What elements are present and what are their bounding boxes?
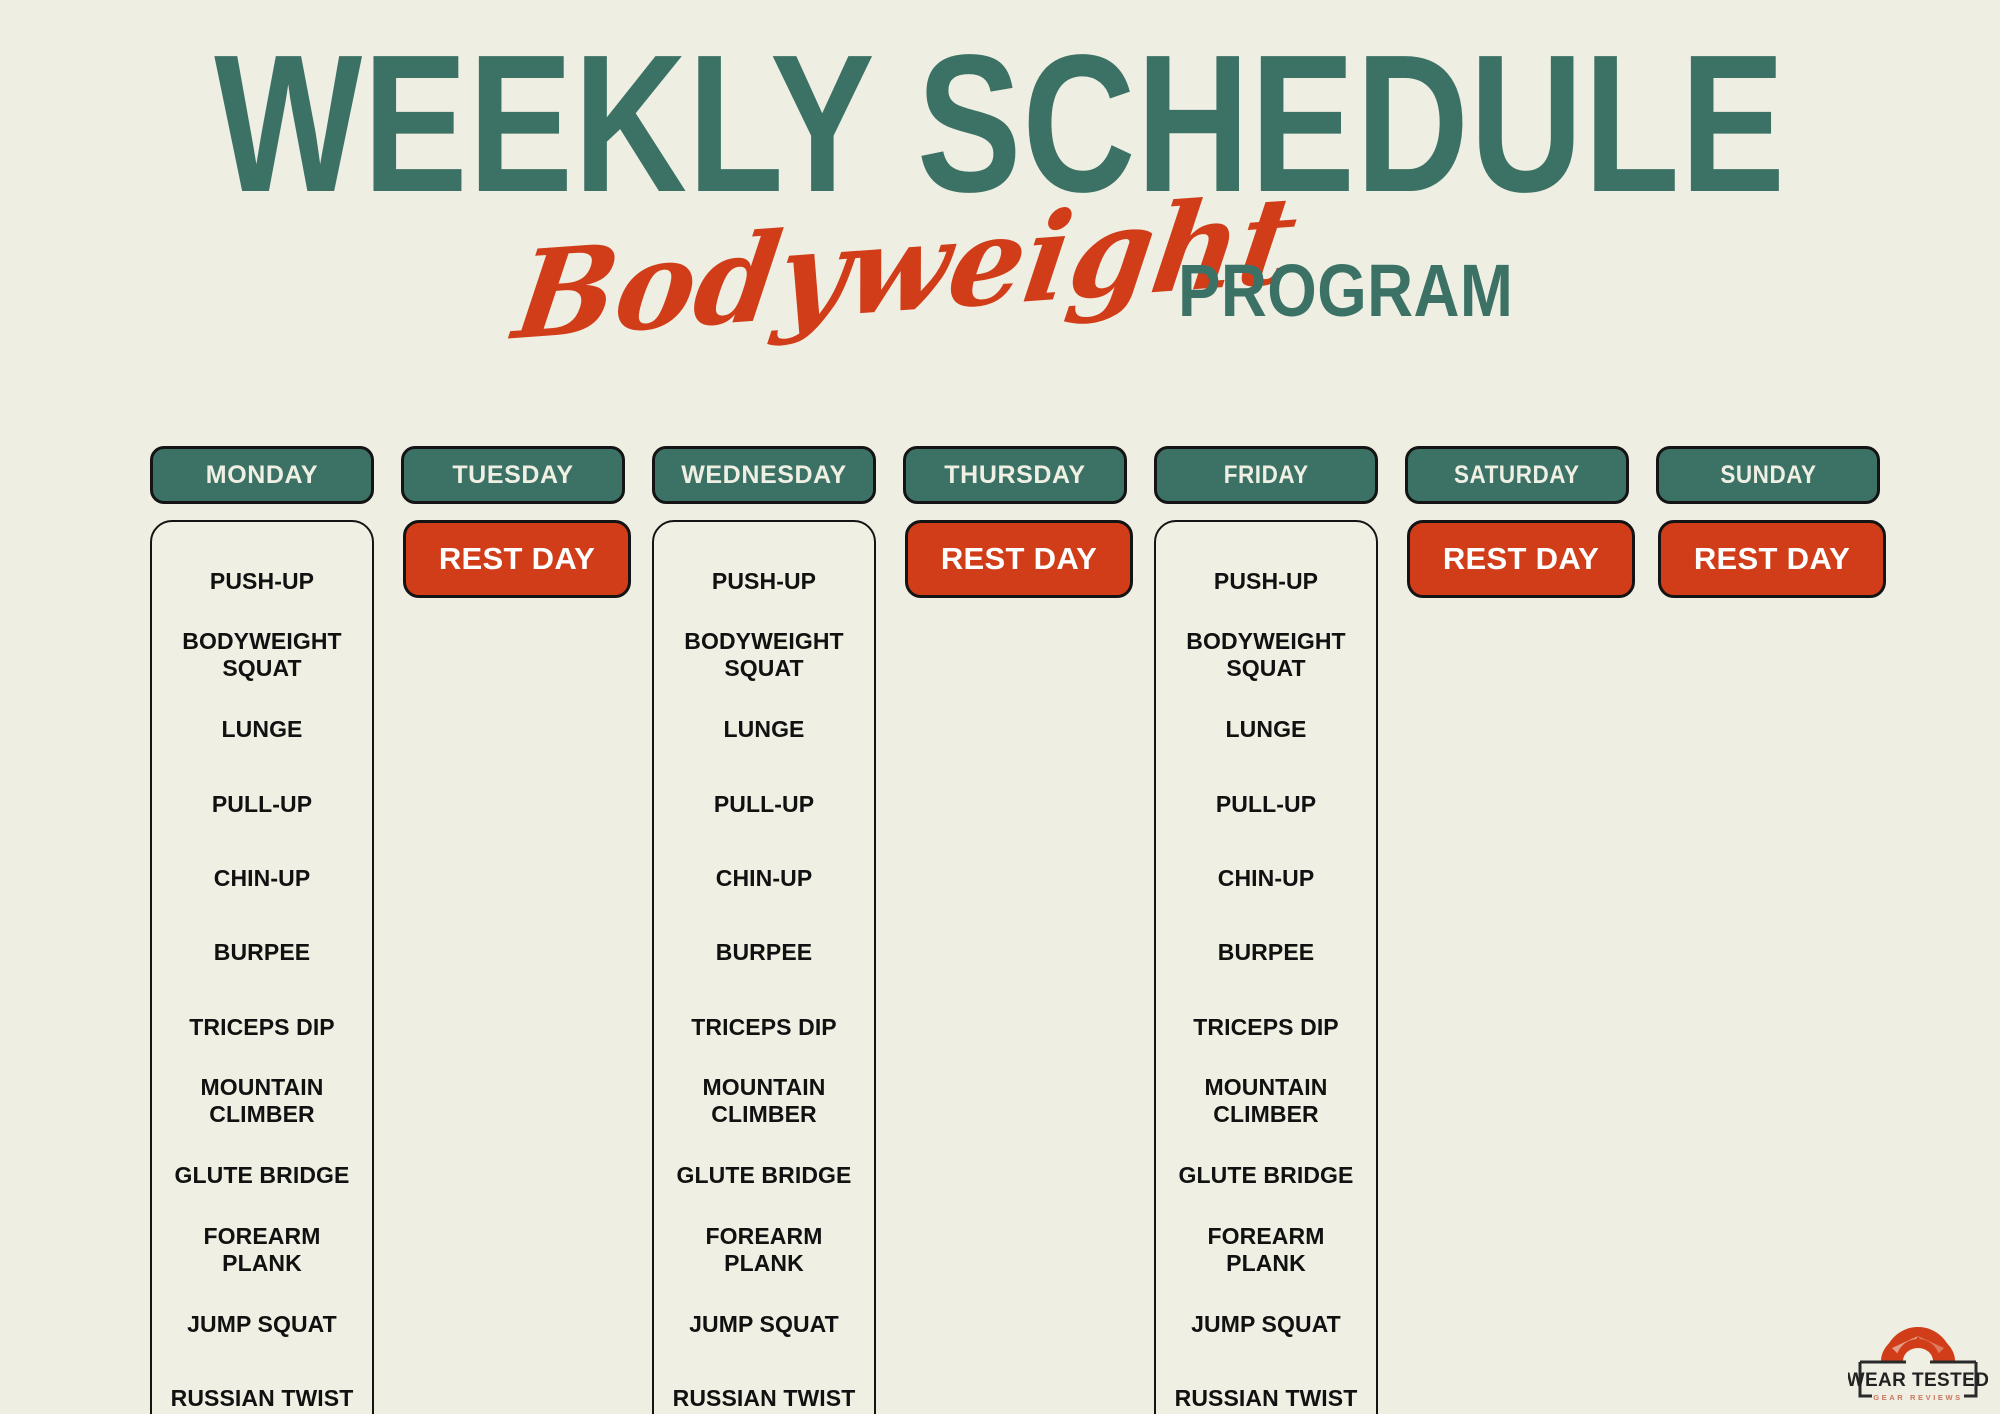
exercise-item[interactable]: BODYWEIGHT SQUAT bbox=[160, 618, 364, 692]
exercise-item[interactable]: BURPEE bbox=[160, 916, 364, 990]
day-header-tuesday[interactable]: TUESDAY bbox=[401, 446, 625, 504]
rest-day-block[interactable]: REST DAY bbox=[1658, 520, 1886, 598]
rest-day-block[interactable]: REST DAY bbox=[403, 520, 631, 598]
aperture-icon bbox=[1881, 1327, 1955, 1374]
exercise-item[interactable]: RUSSIAN TWIST bbox=[662, 1362, 866, 1414]
exercise-item[interactable]: BODYWEIGHT SQUAT bbox=[662, 618, 866, 692]
day-header-label: THURSDAY bbox=[944, 461, 1085, 490]
day-column-monday: MONDAYPUSH-UPBODYWEIGHT SQUATLUNGEPULL-U… bbox=[150, 446, 401, 1414]
rest-day-label: REST DAY bbox=[941, 541, 1097, 577]
day-header-monday[interactable]: MONDAY bbox=[150, 446, 374, 504]
exercise-item[interactable]: BODYWEIGHT SQUAT bbox=[1164, 618, 1368, 692]
exercise-item[interactable]: FOREARM PLANK bbox=[1164, 1213, 1368, 1287]
day-column-friday: FRIDAYPUSH-UPBODYWEIGHT SQUATLUNGEPULL-U… bbox=[1154, 446, 1405, 1414]
exercise-item[interactable]: JUMP SQUAT bbox=[160, 1287, 364, 1361]
subtitle-program-word: PROGRAM bbox=[1178, 254, 1513, 328]
subtitle-row: Bodyweight PROGRAM bbox=[0, 238, 2000, 368]
exercise-item[interactable]: TRICEPS DIP bbox=[1164, 990, 1368, 1064]
day-column-wednesday: WEDNESDAYPUSH-UPBODYWEIGHT SQUATLUNGEPUL… bbox=[652, 446, 903, 1414]
day-column-saturday: SATURDAYREST DAY bbox=[1405, 446, 1656, 1414]
day-header-label: SATURDAY bbox=[1454, 461, 1580, 490]
exercise-item[interactable]: JUMP SQUAT bbox=[1164, 1287, 1368, 1361]
exercise-item[interactable]: LUNGE bbox=[1164, 693, 1368, 767]
rest-day-block[interactable]: REST DAY bbox=[905, 520, 1133, 598]
exercise-item[interactable]: GLUTE BRIDGE bbox=[662, 1139, 866, 1213]
exercise-item[interactable]: MOUNTAIN CLIMBER bbox=[160, 1064, 364, 1138]
exercise-item[interactable]: CHIN-UP bbox=[662, 841, 866, 915]
day-column-thursday: THURSDAYREST DAY bbox=[903, 446, 1154, 1414]
rest-day-block[interactable]: REST DAY bbox=[1407, 520, 1635, 598]
workout-card: PUSH-UPBODYWEIGHT SQUATLUNGEPULL-UPCHIN-… bbox=[1154, 520, 1378, 1414]
day-column-tuesday: TUESDAYREST DAY bbox=[401, 446, 652, 1414]
workout-card: PUSH-UPBODYWEIGHT SQUATLUNGEPULL-UPCHIN-… bbox=[150, 520, 374, 1414]
exercise-item[interactable]: MOUNTAIN CLIMBER bbox=[662, 1064, 866, 1138]
rest-day-label: REST DAY bbox=[1443, 541, 1599, 577]
exercise-item[interactable]: PUSH-UP bbox=[1164, 544, 1368, 618]
schedule-grid: MONDAYPUSH-UPBODYWEIGHT SQUATLUNGEPULL-U… bbox=[150, 446, 1940, 1414]
exercise-item[interactable]: CHIN-UP bbox=[160, 841, 364, 915]
wear-tested-logo: WEAR TESTED GEAR REVIEWS bbox=[1848, 1326, 1988, 1412]
exercise-item[interactable]: RUSSIAN TWIST bbox=[160, 1362, 364, 1414]
exercise-item[interactable]: PUSH-UP bbox=[160, 544, 364, 618]
exercise-item[interactable]: TRICEPS DIP bbox=[160, 990, 364, 1064]
rest-day-label: REST DAY bbox=[1694, 541, 1850, 577]
day-header-friday[interactable]: FRIDAY bbox=[1154, 446, 1378, 504]
exercise-item[interactable]: GLUTE BRIDGE bbox=[160, 1139, 364, 1213]
day-header-label: FRIDAY bbox=[1224, 461, 1309, 490]
exercise-item[interactable]: FOREARM PLANK bbox=[160, 1213, 364, 1287]
logo-tagline: GEAR REVIEWS bbox=[1873, 1393, 1963, 1402]
logo-name: WEAR TESTED bbox=[1848, 1370, 1988, 1391]
exercise-item[interactable]: JUMP SQUAT bbox=[662, 1287, 866, 1361]
weekly-schedule-poster: WEEKLY SCHEDULE Bodyweight PROGRAM MONDA… bbox=[0, 0, 2000, 1414]
exercise-item[interactable]: TRICEPS DIP bbox=[662, 990, 866, 1064]
day-header-label: SUNDAY bbox=[1720, 461, 1816, 490]
rest-day-label: REST DAY bbox=[439, 541, 595, 577]
day-header-label: MONDAY bbox=[206, 461, 318, 490]
exercise-item[interactable]: LUNGE bbox=[662, 693, 866, 767]
exercise-item[interactable]: GLUTE BRIDGE bbox=[1164, 1139, 1368, 1213]
exercise-item[interactable]: PULL-UP bbox=[160, 767, 364, 841]
day-header-saturday[interactable]: SATURDAY bbox=[1405, 446, 1629, 504]
day-column-sunday: SUNDAYREST DAY bbox=[1656, 446, 1907, 1414]
exercise-item[interactable]: PULL-UP bbox=[662, 767, 866, 841]
exercise-item[interactable]: CHIN-UP bbox=[1164, 841, 1368, 915]
exercise-item[interactable]: LUNGE bbox=[160, 693, 364, 767]
day-header-sunday[interactable]: SUNDAY bbox=[1656, 446, 1880, 504]
exercise-item[interactable]: FOREARM PLANK bbox=[662, 1213, 866, 1287]
workout-card: PUSH-UPBODYWEIGHT SQUATLUNGEPULL-UPCHIN-… bbox=[652, 520, 876, 1414]
poster-header: WEEKLY SCHEDULE Bodyweight PROGRAM bbox=[0, 0, 2000, 420]
day-header-thursday[interactable]: THURSDAY bbox=[903, 446, 1127, 504]
exercise-item[interactable]: RUSSIAN TWIST bbox=[1164, 1362, 1368, 1414]
exercise-item[interactable]: MOUNTAIN CLIMBER bbox=[1164, 1064, 1368, 1138]
exercise-item[interactable]: BURPEE bbox=[662, 916, 866, 990]
exercise-item[interactable]: PULL-UP bbox=[1164, 767, 1368, 841]
day-header-wednesday[interactable]: WEDNESDAY bbox=[652, 446, 876, 504]
exercise-item[interactable]: PUSH-UP bbox=[662, 544, 866, 618]
exercise-item[interactable]: BURPEE bbox=[1164, 916, 1368, 990]
day-header-label: WEDNESDAY bbox=[681, 461, 847, 490]
day-header-label: TUESDAY bbox=[452, 461, 573, 490]
